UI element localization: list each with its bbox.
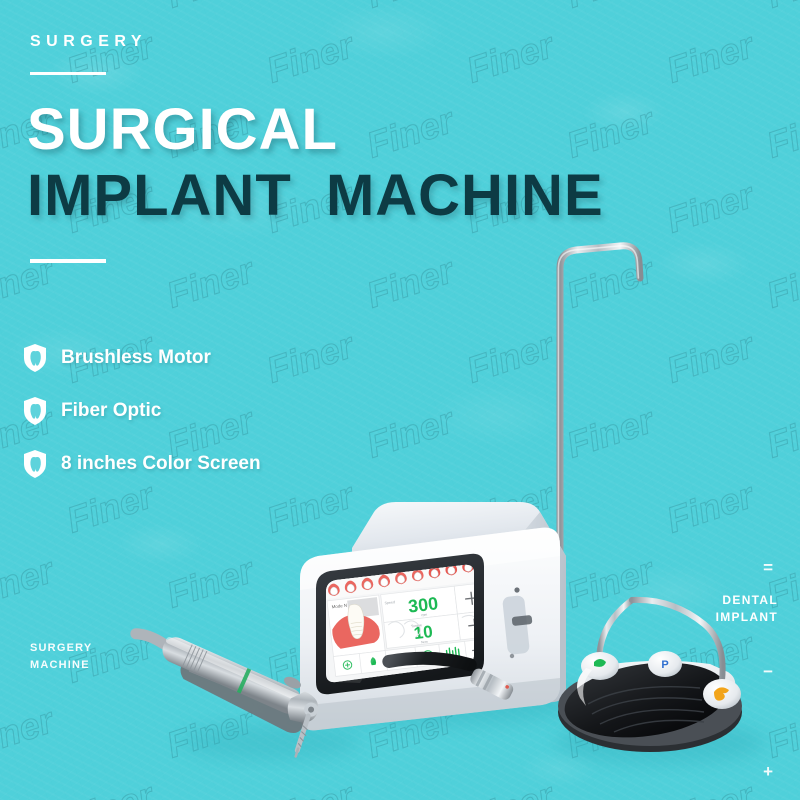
caption-right: DENTAL IMPLANT: [716, 592, 778, 627]
feature-label: Brushless Motor: [61, 347, 211, 369]
svg-text:Torque: Torque: [411, 623, 422, 628]
feature-list: Brushless Motor Fiber Optic 8 inches Col…: [22, 341, 261, 500]
poster-canvas: Finer: [0, 0, 800, 800]
svg-text:rpm: rpm: [421, 613, 427, 618]
feature-label: Fiber Optic: [61, 400, 161, 422]
page-title-line2: IMPLANT MACHINE: [27, 167, 604, 225]
edge-mark-plus: +: [763, 762, 773, 782]
svg-text:CW: CW: [391, 658, 398, 664]
feature-item: Brushless Motor: [22, 341, 261, 375]
shield-tooth-icon: [22, 343, 48, 373]
kicker-label: SURGERY: [30, 33, 147, 51]
svg-text:P: P: [661, 659, 668, 671]
feature-label: 8 inches Color Screen: [61, 453, 261, 475]
svg-text:Mode N: Mode N: [331, 603, 347, 610]
page-title-line1: SURGICAL: [27, 101, 338, 159]
edge-mark-equals: =: [763, 558, 773, 578]
divider-top: [30, 72, 106, 75]
svg-text:Speed: Speed: [384, 600, 395, 605]
divider-middle: [30, 259, 106, 263]
caption-right-line2: IMPLANT: [716, 609, 778, 626]
caption-bottom-left-line1: SURGERY: [30, 640, 92, 657]
edge-mark-minus: −: [763, 662, 773, 682]
shield-tooth-icon: [22, 396, 48, 426]
caption-right-line1: DENTAL: [716, 592, 778, 609]
svg-text:20:1: 20:1: [403, 656, 413, 662]
caption-bottom-left: SURGERY MACHINE: [30, 640, 92, 673]
shield-tooth-icon: [22, 449, 48, 479]
feature-item: 8 inches Color Screen: [22, 447, 261, 481]
svg-text:Ncm: Ncm: [421, 640, 428, 645]
caption-bottom-left-line2: MACHINE: [30, 657, 92, 674]
svg-text:300: 300: [407, 593, 439, 616]
svg-text:10: 10: [413, 622, 434, 643]
feature-item: Fiber Optic: [22, 394, 261, 428]
